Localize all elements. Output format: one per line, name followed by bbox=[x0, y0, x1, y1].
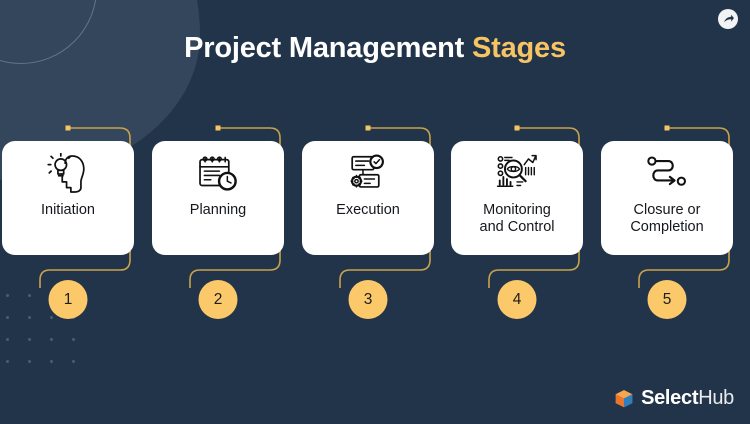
stage-number-3: 3 bbox=[349, 280, 388, 319]
stage-label-3: Execution bbox=[332, 202, 404, 219]
selecthub-cube-icon bbox=[613, 388, 635, 410]
stage-item-closure-or-completion[interactable]: Closure or Completion 5 bbox=[601, 120, 733, 320]
lightbulb-head-icon bbox=[44, 152, 92, 196]
page-title-accent: Stages bbox=[472, 32, 566, 64]
stage-item-planning[interactable]: Planning 2 bbox=[152, 120, 284, 320]
analytics-magnifier-eye-icon bbox=[493, 152, 541, 196]
stage-card-3[interactable]: Execution bbox=[302, 141, 434, 255]
share-icon bbox=[722, 13, 735, 26]
stage-number-5: 5 bbox=[648, 280, 687, 319]
stage-number-2: 2 bbox=[199, 280, 238, 319]
stage-item-initiation[interactable]: Initiation 1 bbox=[2, 120, 134, 320]
calendar-clock-icon bbox=[194, 152, 242, 196]
logo-name-bold: Select bbox=[641, 387, 698, 409]
logo-name-light: Hub bbox=[698, 387, 734, 409]
stage-number-4: 4 bbox=[498, 280, 537, 319]
page-title-main: Project Management bbox=[184, 32, 464, 64]
infographic-poster: Project Management Stages bbox=[0, 0, 750, 424]
selecthub-logo[interactable]: SelectHub bbox=[613, 387, 734, 410]
task-gear-icon bbox=[344, 152, 392, 196]
stage-number-1: 1 bbox=[49, 280, 88, 319]
stage-card-1[interactable]: Initiation bbox=[2, 141, 134, 255]
stage-item-monitoring-and-control[interactable]: Monitoring and Control 4 bbox=[451, 120, 583, 320]
stage-row: Initiation 1 bbox=[0, 120, 750, 320]
page-title: Project Management Stages bbox=[0, 32, 750, 65]
stage-card-4[interactable]: Monitoring and Control bbox=[451, 141, 583, 255]
stage-label-4: Monitoring and Control bbox=[476, 202, 559, 236]
stage-label-1: Initiation bbox=[37, 202, 99, 219]
stage-label-5: Closure or Completion bbox=[626, 202, 707, 236]
share-button[interactable] bbox=[718, 9, 738, 29]
stage-card-2[interactable]: Planning bbox=[152, 141, 284, 255]
stage-label-2: Planning bbox=[186, 202, 250, 219]
selecthub-wordmark: SelectHub bbox=[641, 387, 734, 410]
stage-item-execution[interactable]: Execution 3 bbox=[302, 120, 434, 320]
winding-path-icon bbox=[643, 152, 691, 196]
stage-card-5[interactable]: Closure or Completion bbox=[601, 141, 733, 255]
